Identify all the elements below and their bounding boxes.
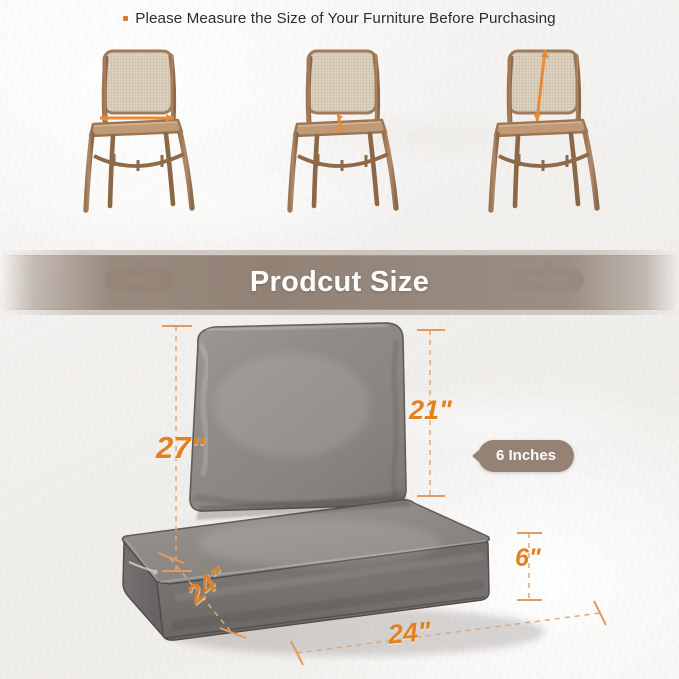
cushion-illustration: [0, 300, 679, 679]
chair-depth-illustration: [282, 44, 406, 224]
banner-title: Prodcut Size: [250, 266, 429, 299]
dim-label-total-height: 27": [156, 432, 205, 463]
chair-height-illustration: [483, 44, 607, 224]
cushion-svg: [0, 300, 679, 679]
instruction-header: Please Measure the Size of Your Furnitur…: [0, 10, 679, 27]
square-bullet-icon: [123, 16, 128, 21]
instruction-text: Please Measure the Size of Your Furnitur…: [135, 10, 555, 27]
dim-label-seat-width: 24": [387, 618, 432, 649]
back-cushion: [190, 323, 406, 511]
chair-svg: [78, 44, 202, 224]
product-size-infographic: Please Measure the Size of Your Furnitur…: [0, 0, 679, 679]
chair-width-illustration: [78, 44, 202, 224]
chair-svg: [483, 44, 607, 224]
dim-label-back-height: 21": [409, 397, 452, 424]
thickness-badge: 6 Inches: [478, 440, 574, 472]
chair-svg: [282, 44, 406, 224]
chair-illustration-row: Width Depth Height: [0, 44, 679, 244]
section-banner: Prodcut Size: [0, 255, 679, 310]
dim-label-seat-thickness: 6": [515, 546, 541, 571]
